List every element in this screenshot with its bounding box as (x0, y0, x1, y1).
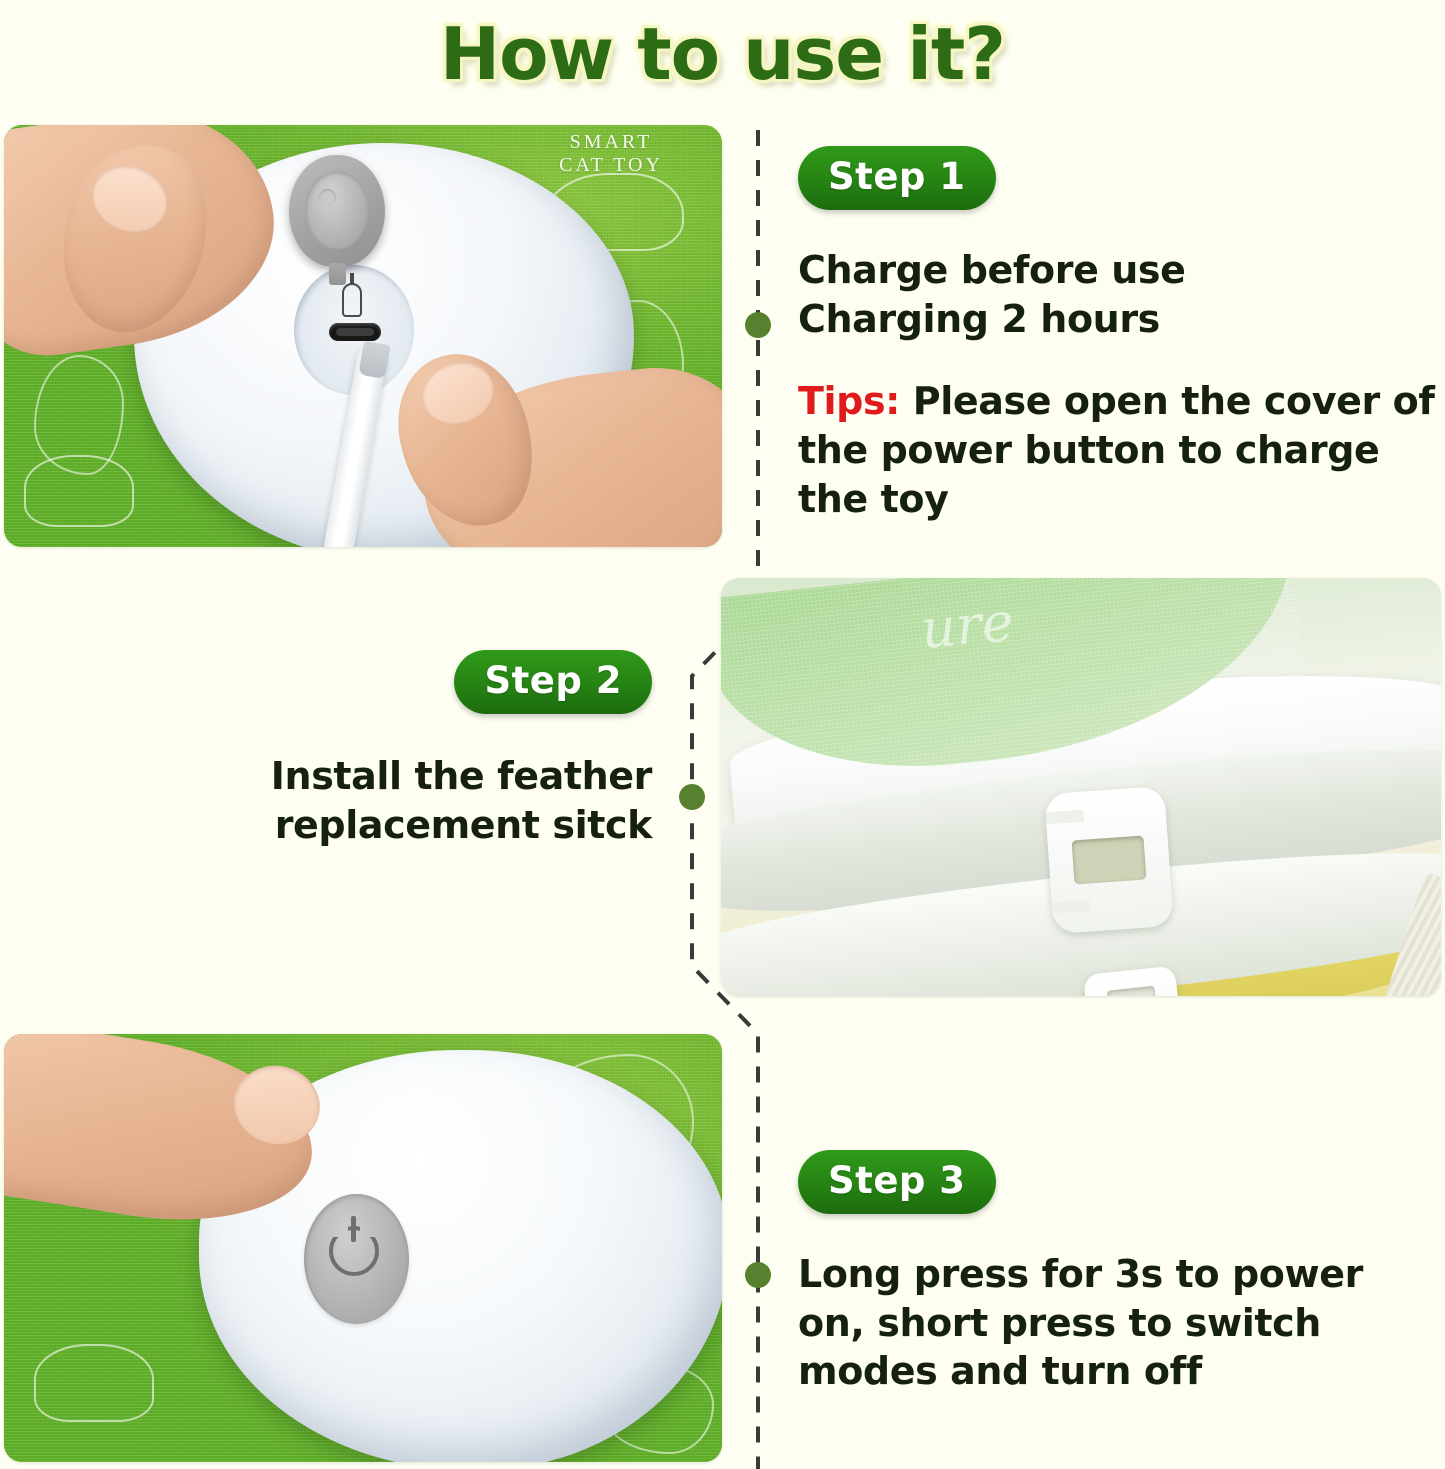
step-3-badge: Step 3 (798, 1150, 996, 1214)
cover-hinge (329, 263, 346, 285)
step-2-line-2: replacement sitck (160, 801, 652, 850)
power-button-cover-open (289, 155, 385, 267)
step-1-line-1: Charge before use (798, 246, 1438, 295)
step-2-text-block: Step 2 Install the feather replacement s… (160, 650, 652, 849)
step-3-instruction: Long press for 3s to power on, short pre… (798, 1250, 1438, 1396)
step-1-instruction: Charge before use Charging 2 hours (798, 246, 1438, 343)
step-2-connector-dot (679, 784, 705, 810)
cover-inner-circle (305, 171, 369, 249)
step-1-text-block: Step 1 Charge before use Charging 2 hour… (798, 146, 1438, 523)
slot-opening (1072, 836, 1147, 885)
usb-c-port (329, 323, 381, 341)
fabric-print-line1: SMART (570, 131, 653, 153)
slot-rib (1046, 810, 1085, 825)
step-1-line-2: Charging 2 hours (798, 295, 1438, 344)
step-1-tips: Tips: Please open the cover of the power… (798, 377, 1438, 523)
step-3-text-block: Step 3 Long press for 3s to power on, sh… (798, 1150, 1438, 1396)
power-symbol-bar (351, 1216, 356, 1242)
step-1-badge: Step 1 (798, 146, 996, 210)
usb-symbol-icon (342, 283, 362, 317)
step-2-photo-feather-slot: ure (721, 578, 1441, 996)
cat-outline-icon (34, 1344, 154, 1422)
step-2-line-1: Install the feather (160, 752, 652, 801)
fabric-print-line2: CAT TOY (559, 154, 663, 176)
tips-label: Tips: (798, 379, 900, 423)
slot-rib (1052, 899, 1091, 914)
step-3-line-3: modes and turn off (798, 1347, 1438, 1396)
step-3-connector-dot (745, 1262, 771, 1288)
fabric-print-text: SMART CAT TOY (516, 131, 706, 177)
cat-outline-icon (24, 455, 134, 527)
step-1-photo-charging: SMART CAT TOY (4, 125, 722, 547)
page-title: How to use it? (440, 12, 1005, 96)
step-2-instruction: Install the feather replacement sitck (160, 752, 652, 849)
cover-center-dot (319, 189, 336, 206)
page-title-container: How to use it? (0, 4, 1445, 104)
step-1-connector-dot (745, 312, 771, 338)
step-2-badge: Step 2 (454, 650, 652, 714)
feather-stick-slot (1044, 786, 1173, 934)
step-3-line-2: on, short press to switch (798, 1299, 1438, 1348)
cloth-script-print: ure (918, 590, 1016, 661)
power-button (304, 1194, 409, 1324)
step-3-line-1: Long press for 3s to power (798, 1250, 1438, 1299)
step-3-photo-power-button (4, 1034, 722, 1462)
clip-hole (1107, 986, 1157, 996)
